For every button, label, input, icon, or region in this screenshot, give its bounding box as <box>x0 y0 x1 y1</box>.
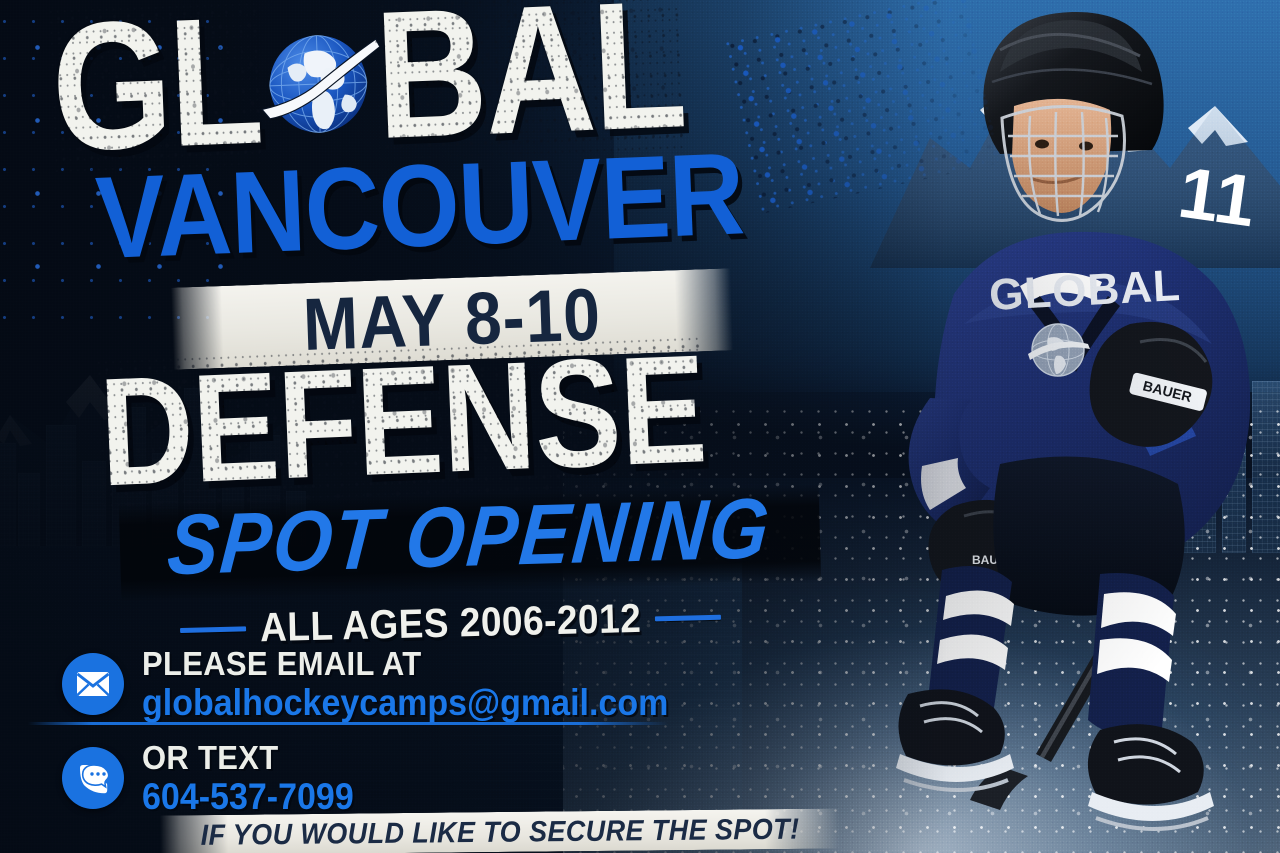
secure-spot-banner: IF YOU WOULD LIKE TO SECURE THE SPOT! <box>160 808 840 853</box>
contact-block: PLEASE EMAIL AT globalhockeycamps@gmail.… <box>62 648 762 814</box>
headline-defense: DEFENSE <box>97 332 708 510</box>
age-dash-left <box>180 626 246 633</box>
contact-divider <box>28 722 668 725</box>
email-address[interactable]: globalhockeycamps@gmail.com <box>142 685 668 722</box>
poster-root: 11 GLOBAL BAUER <box>0 0 1280 853</box>
poster-content: GL <box>0 0 830 853</box>
contact-row-phone[interactable]: OR TEXT 604-537-7099 <box>62 742 762 814</box>
age-range-text: ALL AGES 2006-2012 <box>259 596 641 652</box>
headline-global-part1: GL <box>49 0 263 172</box>
contact-row-email[interactable]: PLEASE EMAIL AT globalhockeycamps@gmail.… <box>62 648 762 720</box>
age-dash-right <box>655 614 721 621</box>
contact-email-lines: PLEASE EMAIL AT globalhockeycamps@gmail.… <box>142 648 668 720</box>
phone-chat-icon <box>62 747 124 809</box>
phone-number[interactable]: 604-537-7099 <box>142 779 354 816</box>
age-range-row: ALL AGES 2006-2012 <box>180 595 751 651</box>
secure-spot-banner-text: IF YOU WOULD LIKE TO SECURE THE SPOT! <box>160 807 840 853</box>
text-label: OR TEXT <box>142 741 354 774</box>
headline-vancouver: VANCOUVER <box>94 136 746 277</box>
contact-phone-lines: OR TEXT 604-537-7099 <box>142 742 354 814</box>
envelope-icon <box>62 653 124 715</box>
globe-icon <box>253 21 384 152</box>
subheadline-spot-opening: SPOT OPENING <box>165 487 774 589</box>
email-label: PLEASE EMAIL AT <box>142 647 668 680</box>
